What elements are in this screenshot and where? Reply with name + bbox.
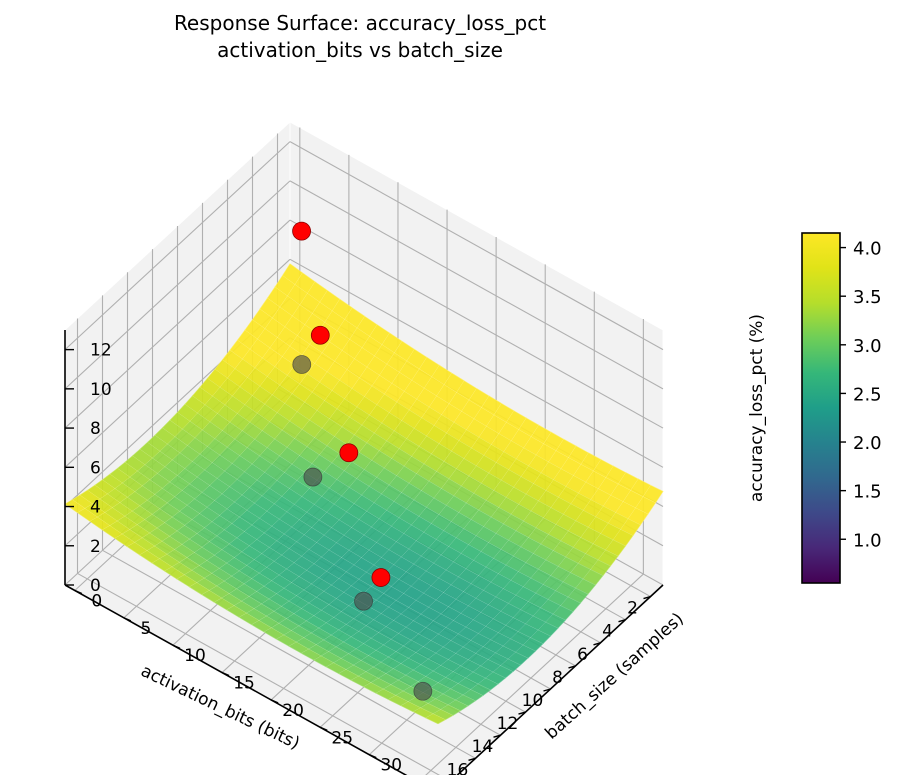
plot-title-line2: activation_bits vs batch_size bbox=[217, 38, 503, 62]
colorbar-tick-label: 3.5 bbox=[853, 287, 882, 308]
x-tick-label: 14 bbox=[472, 737, 494, 757]
z-tick-label: 10 bbox=[90, 380, 112, 400]
scatter-point-observed-on-surface bbox=[304, 468, 322, 486]
scatter-point-observed-high bbox=[372, 569, 390, 587]
z-tick-label: 12 bbox=[90, 341, 112, 361]
colorbar-label: accuracy_loss_pct (%) bbox=[747, 314, 767, 502]
z-tick-label: 6 bbox=[90, 458, 101, 478]
colorbar-tick-label: 4.0 bbox=[853, 239, 882, 260]
x-tick-label: 4 bbox=[602, 622, 613, 642]
scatter-point-observed-on-surface bbox=[414, 682, 432, 700]
z-tick-label: 8 bbox=[90, 419, 101, 439]
colorbar-tick-label: 1.5 bbox=[853, 482, 882, 503]
colorbar-ticks: 1.01.52.02.53.03.54.0 bbox=[840, 239, 882, 552]
y-tick-label: 25 bbox=[331, 728, 353, 748]
x-tick-label: 12 bbox=[497, 714, 519, 734]
z-tick-label: 4 bbox=[90, 498, 101, 518]
y-tick-label: 5 bbox=[140, 619, 151, 639]
scatter-point-observed-high bbox=[311, 326, 329, 344]
colorbar-tick-label: 2.5 bbox=[853, 384, 882, 405]
response-surface-3d-plot: Response Surface: accuracy_loss_pct acti… bbox=[0, 0, 902, 775]
scatter-point-observed-on-surface bbox=[293, 355, 311, 373]
y-tick-label: 30 bbox=[380, 756, 402, 775]
scatter-point-observed-on-surface bbox=[355, 592, 373, 610]
plot-title-line1: Response Surface: accuracy_loss_pct bbox=[174, 11, 546, 35]
y-tick-label: 15 bbox=[233, 674, 255, 694]
scatter-point-observed-high bbox=[293, 222, 311, 240]
z-tick-label: 2 bbox=[90, 537, 101, 557]
x-tick-label: 8 bbox=[552, 668, 563, 688]
z-tick-label: 0 bbox=[90, 576, 101, 596]
figure-canvas: Response Surface: accuracy_loss_pct acti… bbox=[0, 0, 902, 775]
y-tick-label: 20 bbox=[282, 701, 304, 721]
y-tick-label: 10 bbox=[184, 646, 206, 666]
x-tick-label: 10 bbox=[522, 691, 544, 711]
colorbar-tick-label: 2.0 bbox=[853, 433, 882, 454]
x-tick-label: 6 bbox=[577, 645, 588, 665]
x-tick-label: 2 bbox=[627, 599, 638, 619]
colorbar-tick-label: 1.0 bbox=[853, 530, 882, 551]
colorbar-gradient bbox=[802, 233, 840, 583]
colorbar: 1.01.52.02.53.03.54.0 accuracy_loss_pct … bbox=[747, 233, 882, 583]
colorbar-tick-label: 3.0 bbox=[853, 336, 882, 357]
x-tick-label: 16 bbox=[447, 760, 469, 775]
scatter-point-observed-high bbox=[340, 444, 358, 462]
